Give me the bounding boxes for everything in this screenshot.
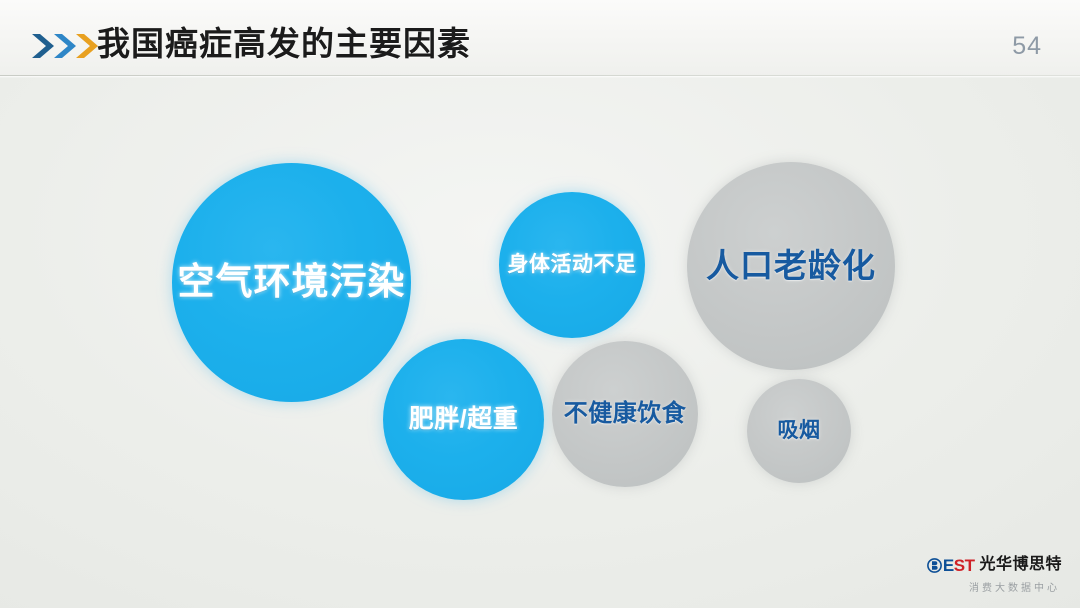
logo-row: EST 光华博思特 <box>922 554 1062 576</box>
logo-letters-st: ST <box>954 557 975 574</box>
bubble-unhealthy-diet-label: 不健康饮食 <box>564 401 687 427</box>
slide-header: 我国癌症高发的主要因素 54 <box>0 0 1080 76</box>
logo-subtitle: 消费大数据中心 <box>922 579 1062 594</box>
best-logo-mark: EST <box>927 557 975 574</box>
logo-letter-e: E <box>943 557 954 574</box>
bubble-smoking-label: 吸烟 <box>778 419 821 442</box>
chevron-group-icon <box>30 31 102 61</box>
chevron-1-icon <box>32 34 54 58</box>
bubble-obesity-label: 肥胖/超重 <box>409 406 518 434</box>
chevron-3-icon <box>76 34 98 58</box>
bubble-population-aging[interactable]: 人口老龄化 <box>687 162 895 370</box>
bubble-smoking[interactable]: 吸烟 <box>747 379 851 483</box>
logo-b-circle-icon <box>927 557 942 574</box>
bubble-air-pollution-label: 空气环境污染 <box>178 262 406 303</box>
chevron-2-icon <box>54 34 76 58</box>
bubble-obesity[interactable]: 肥胖/超重 <box>383 339 544 500</box>
page-number: 54 <box>1012 32 1042 61</box>
bubble-physical-inactivity-label: 身体活动不足 <box>508 253 637 276</box>
slide-canvas: 我国癌症高发的主要因素 54 空气环境污染 身体活动不足 人口老龄化 肥胖/超重… <box>0 0 1080 608</box>
bubble-air-pollution[interactable]: 空气环境污染 <box>172 163 411 402</box>
bubble-unhealthy-diet[interactable]: 不健康饮食 <box>552 341 698 487</box>
page-title: 我国癌症高发的主要因素 <box>97 23 471 65</box>
bubble-population-aging-label: 人口老龄化 <box>706 248 876 284</box>
header-divider-highlight <box>0 76 1080 78</box>
brand-logo: EST 光华博思特 消费大数据中心 <box>922 554 1062 594</box>
logo-company-name: 光华博思特 <box>979 556 1062 574</box>
bubble-physical-inactivity[interactable]: 身体活动不足 <box>499 192 645 338</box>
